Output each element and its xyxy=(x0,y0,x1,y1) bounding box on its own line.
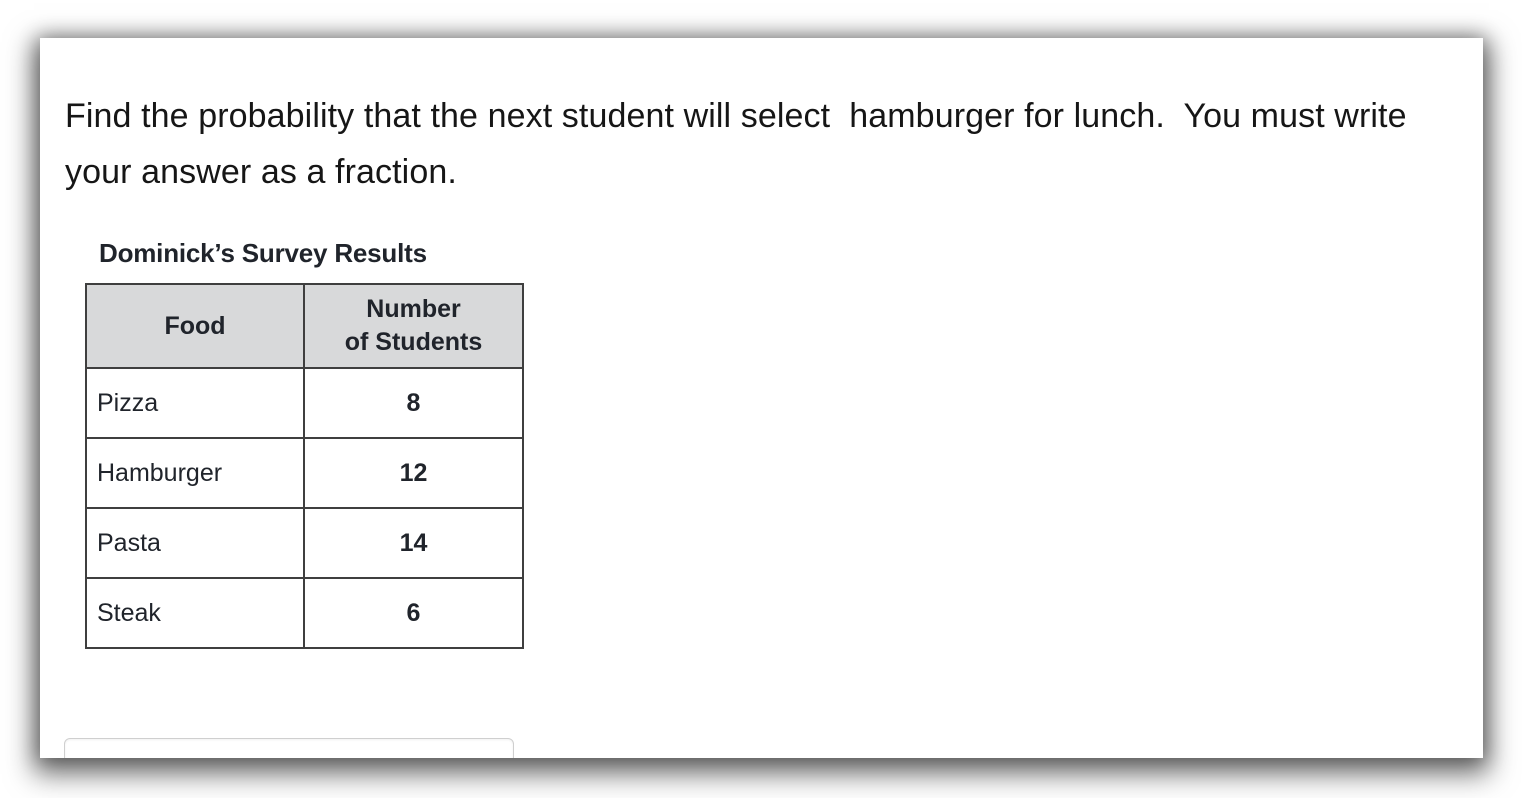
table-row: Steak 6 xyxy=(86,578,523,648)
column-header-number-line1: Number xyxy=(366,295,460,323)
column-header-food: Food xyxy=(86,284,304,368)
cell-food: Hamburger xyxy=(86,438,304,508)
column-header-number-of-students: Number of Students xyxy=(304,284,523,368)
survey-results-table: Food Number of Students Pizza 8 Hamburge… xyxy=(85,283,524,649)
cell-food: Steak xyxy=(86,578,304,648)
survey-figure: Dominick’s Survey Results Food Number of… xyxy=(85,238,524,649)
cell-students: 14 xyxy=(304,508,523,578)
table-row: Pasta 14 xyxy=(86,508,523,578)
cell-food: Pizza xyxy=(86,368,304,438)
column-header-number-line2: of Students xyxy=(345,328,483,356)
table-row: Hamburger 12 xyxy=(86,438,523,508)
cell-students: 12 xyxy=(304,438,523,508)
survey-table-title: Dominick’s Survey Results xyxy=(99,238,524,269)
cell-students: 6 xyxy=(304,578,523,648)
table-row: Pizza 8 xyxy=(86,368,523,438)
question-card: Find the probability that the next stude… xyxy=(40,38,1483,758)
table-header-row: Food Number of Students xyxy=(86,284,523,368)
answer-input[interactable] xyxy=(64,738,514,758)
question-prompt: Find the probability that the next stude… xyxy=(65,88,1455,200)
cell-food: Pasta xyxy=(86,508,304,578)
cell-students: 8 xyxy=(304,368,523,438)
